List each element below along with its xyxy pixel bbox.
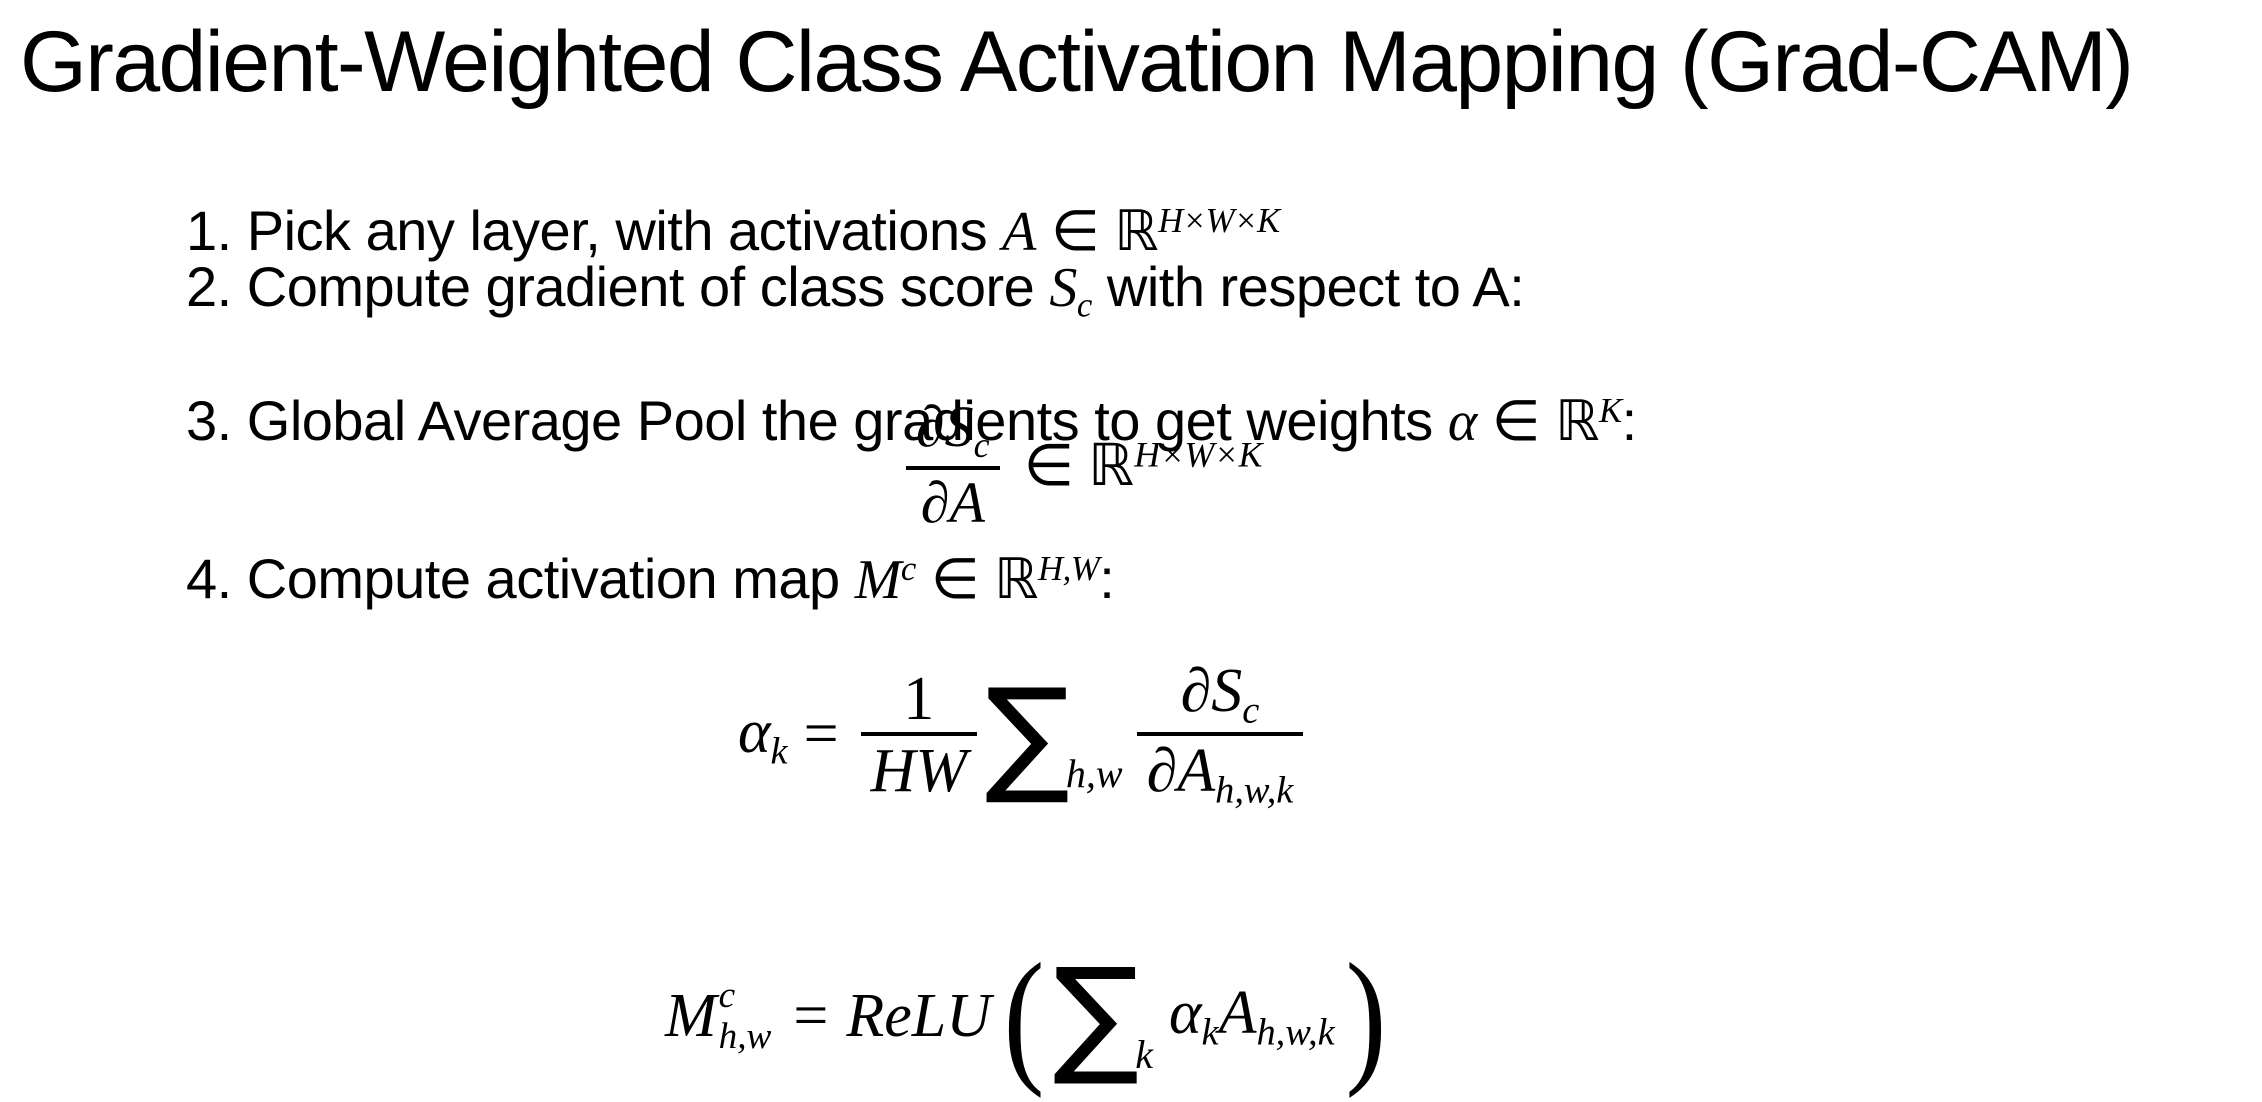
- list-item-4-exponent: H,W: [1038, 549, 1099, 588]
- summation-icon: ∑: [985, 683, 1070, 786]
- equals-icon: =: [793, 981, 828, 1052]
- partial-icon: ∂: [916, 394, 945, 459]
- list-item-3-exponent: K: [1599, 391, 1622, 430]
- alpha-subscript: k: [1202, 1011, 1219, 1053]
- equation-activation-map: M c h,w = ReLU ( ∑ k αkAh,w,k ): [665, 930, 1391, 1102]
- partial-icon: ∂: [1147, 737, 1178, 805]
- summation-subscript: k: [1135, 1031, 1153, 1078]
- partial-icon: ∂: [1181, 657, 1212, 725]
- real-numbers-icon: ℝ: [994, 547, 1038, 612]
- element-of-icon: ∈: [1024, 431, 1075, 499]
- activation-var: A: [1219, 979, 1257, 1047]
- element-of-icon: ∈: [931, 547, 979, 612]
- list-item-2-text: Compute gradient of class score: [247, 255, 1035, 318]
- real-numbers-icon: ℝ: [1088, 431, 1134, 499]
- list-item-4-number: 4.: [186, 547, 232, 610]
- equals-icon: =: [804, 699, 839, 770]
- real-numbers-icon: ℝ: [1555, 389, 1599, 454]
- list-item-2-text-after: with respect to A:: [1107, 255, 1524, 318]
- list-item-2-subscript: c: [1077, 285, 1092, 324]
- list-item-1-number: 1.: [186, 199, 232, 262]
- partial-icon: ∂: [921, 470, 950, 535]
- activation-var: A: [949, 470, 984, 535]
- list-item-3-var: α: [1448, 391, 1477, 453]
- fraction-partial-derivative: ∂Sc ∂A: [906, 398, 1000, 532]
- equation-gradient: ∂Sc ∂A ∈ ℝH×W×K: [900, 398, 1263, 532]
- element-of-icon: ∈: [1492, 389, 1540, 454]
- list-item-4: 4. Compute activation map Mc ∈ ℝH,W:: [186, 536, 1114, 613]
- list-item-4-colon: :: [1099, 547, 1114, 610]
- fraction-partial-derivative: ∂Sc ∂Ah,w,k: [1137, 660, 1304, 810]
- list-item-3-number: 3.: [186, 389, 232, 452]
- alpha-var: α: [738, 698, 771, 766]
- map-superscript: c: [719, 977, 736, 1014]
- summation-group: ∑ h,w: [985, 683, 1123, 786]
- equation-gradient-exponent: H×W×K: [1134, 434, 1262, 474]
- list-item-4-var: M: [855, 549, 901, 611]
- activation-subscript: h,w,k: [1215, 770, 1293, 812]
- score-subscript: c: [1242, 690, 1259, 732]
- slide-canvas: Gradient-Weighted Class Activation Mappi…: [0, 0, 2262, 1102]
- map-var: M: [665, 981, 717, 1052]
- list-item-1-text: Pick any layer, with activations: [247, 199, 987, 262]
- page-title: Gradient-Weighted Class Activation Mappi…: [20, 14, 2260, 110]
- alpha-subscript: k: [771, 730, 788, 772]
- list-item-4-superscript: c: [901, 549, 916, 588]
- fraction-denominator: HW: [861, 736, 977, 802]
- map-indices: c h,w: [719, 977, 772, 1055]
- paren-close-icon: ): [1345, 930, 1386, 1102]
- list-item-2-number: 2.: [186, 255, 232, 318]
- activation-var: A: [1177, 737, 1215, 805]
- list-item-4-text: Compute activation map: [247, 547, 840, 610]
- activation-subscript: h,w,k: [1256, 1011, 1334, 1053]
- score-var: S: [945, 394, 974, 459]
- summation-icon: ∑: [1053, 964, 1139, 1069]
- summation-group: ∑ k: [1053, 964, 1153, 1069]
- list-item-2: 2. Compute gradient of class score Sc wi…: [186, 254, 1524, 338]
- equation-alpha: αk = 1 HW ∑ h,w ∂Sc ∂Ah,w,k: [738, 660, 1309, 810]
- list-item-3-colon: :: [1622, 389, 1637, 452]
- fraction-one-over-hw: 1 HW: [861, 668, 977, 802]
- alpha-var: α: [1169, 979, 1202, 1047]
- list-item-2-var: S: [1049, 257, 1077, 319]
- fraction-numerator: 1: [893, 668, 944, 732]
- score-subscript: c: [974, 425, 990, 465]
- score-var: S: [1211, 657, 1242, 725]
- relu-function-label: ReLU: [846, 981, 991, 1052]
- paren-open-icon: (: [1003, 930, 1044, 1102]
- map-subscript: h,w: [719, 1018, 772, 1055]
- list-item-1-exponent: H×W×K: [1158, 201, 1280, 240]
- summation-subscript: h,w: [1066, 750, 1123, 797]
